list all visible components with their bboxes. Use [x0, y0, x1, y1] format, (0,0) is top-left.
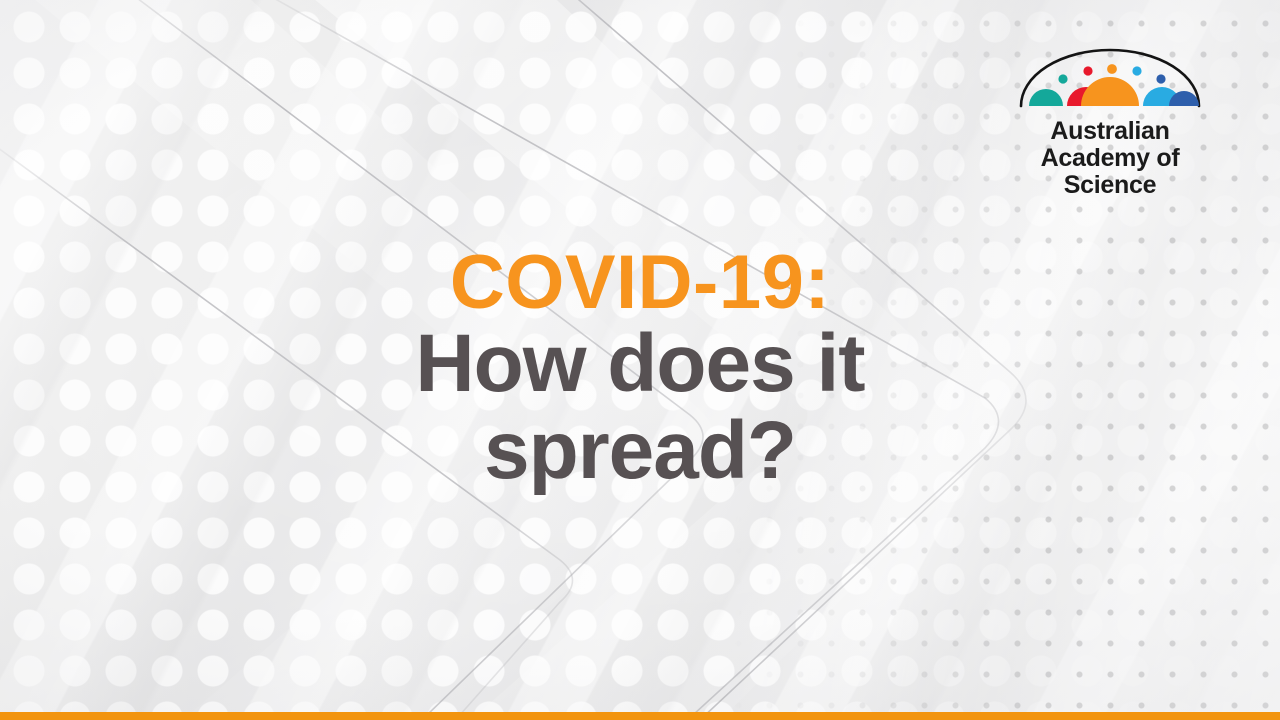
dark-blue-dot	[1156, 74, 1165, 83]
teal-dot	[1058, 74, 1067, 83]
logo-wordmark-line-1: Australian	[1000, 118, 1220, 145]
orange-dot	[1107, 64, 1117, 74]
bottom-accent-bar	[0, 712, 1280, 720]
title-card-stage: Australian Academy of Science COVID-19: …	[0, 0, 1280, 720]
logo-wordmark-line-3: Science	[1000, 172, 1220, 199]
australian-academy-of-science-logo: Australian Academy of Science	[1000, 48, 1220, 199]
orange-petal	[1081, 77, 1139, 106]
title-line-covid19: COVID-19:	[0, 246, 1280, 320]
light-blue-dot	[1132, 66, 1141, 75]
title-block: COVID-19: How does it spread?	[0, 246, 1280, 491]
title-line-spread: spread?	[0, 411, 1280, 491]
title-line-how-does-it: How does it	[0, 324, 1280, 404]
logo-wordmark: Australian Academy of Science	[1000, 118, 1220, 199]
teal-petal	[1029, 89, 1063, 106]
academy-arc-icon	[1015, 48, 1205, 110]
arc-petals	[1029, 77, 1199, 106]
logo-wordmark-line-2: Academy of	[1000, 145, 1220, 172]
red-dot	[1083, 66, 1092, 75]
